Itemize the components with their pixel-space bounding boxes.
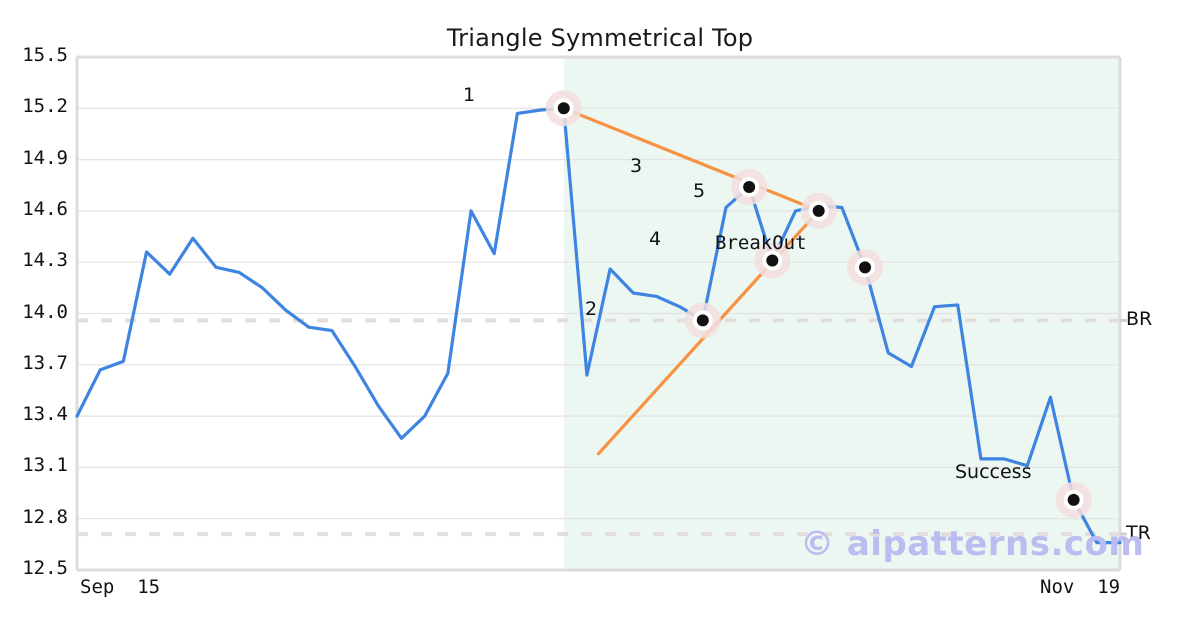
y-axis-tick-label: 13.4 xyxy=(0,403,68,425)
y-axis-tick-label: 14.9 xyxy=(0,147,68,169)
y-axis-tick-label: 14.0 xyxy=(0,301,68,323)
pivot-dot-2[interactable] xyxy=(743,181,755,193)
pivot-dot-5[interactable] xyxy=(859,261,871,273)
pivot-dot-0[interactable] xyxy=(558,102,570,114)
annotation-pivot-2: 2 xyxy=(585,298,597,320)
annotation-pivot-3: 3 xyxy=(630,155,642,177)
x-axis-tick-label: Nov 19 xyxy=(1040,576,1120,598)
pivot-dot-3[interactable] xyxy=(766,254,778,266)
y-axis-tick-label: 15.5 xyxy=(0,44,68,66)
annotation-pivot-5: 5 xyxy=(693,180,705,202)
annotation-success: Success xyxy=(955,461,1031,483)
pivot-dot-6[interactable] xyxy=(1068,494,1080,506)
pivot-dot-1[interactable] xyxy=(697,314,709,326)
y-axis-tick-label: 13.1 xyxy=(0,454,68,476)
pivot-dot-4[interactable] xyxy=(813,205,825,217)
right-axis-label-br: BR xyxy=(1126,308,1152,330)
y-axis-tick-label: 15.2 xyxy=(0,95,68,117)
annotation-pivot-1: 1 xyxy=(463,84,475,106)
y-axis-tick-label: 12.5 xyxy=(0,557,68,579)
annotation-pivot-4: 4 xyxy=(649,228,661,250)
y-axis-tick-label: 12.8 xyxy=(0,506,68,528)
annotation-breakout: BreakOut xyxy=(715,232,807,254)
y-axis-tick-label: 14.3 xyxy=(0,249,68,271)
watermark: © aipatterns.com xyxy=(800,524,1144,564)
chart-canvas: Triangle Symmetrical Top 15.515.214.914.… xyxy=(0,0,1200,630)
x-axis-tick-label: Sep 15 xyxy=(80,576,160,598)
y-axis-tick-label: 13.7 xyxy=(0,352,68,374)
y-axis-tick-label: 14.6 xyxy=(0,198,68,220)
